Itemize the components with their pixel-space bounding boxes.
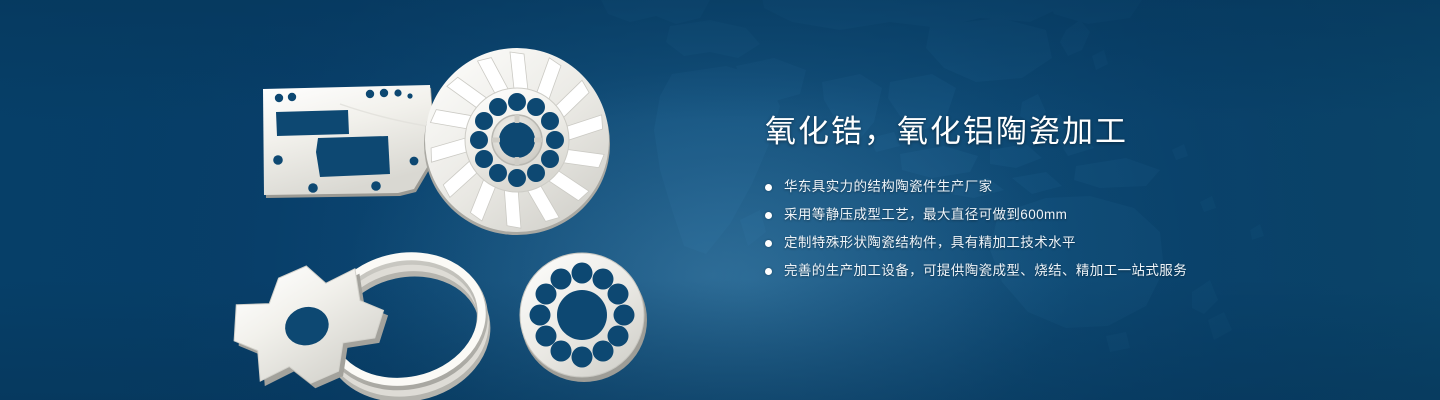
banner-copy: 氧化锆，氧化铝陶瓷加工 华东具实力的结构陶瓷件生产厂家 采用等静压成型工艺，最大… [765, 112, 1385, 289]
bullet-dot-icon [765, 268, 772, 275]
bullet-dot-icon [765, 240, 772, 247]
list-item: 华东具实力的结构陶瓷件生产厂家 [765, 177, 1385, 197]
bullet-dot-icon [765, 184, 772, 191]
ceramic-impeller-disc [424, 48, 610, 235]
ceramic-products-image [230, 40, 670, 380]
list-item: 完善的生产加工设备，可提供陶瓷成型、烧结、精加工一站式服务 [765, 261, 1385, 281]
feature-text: 定制特殊形状陶瓷结构件，具有精加工技术水平 [784, 233, 1076, 253]
list-item: 定制特殊形状陶瓷结构件，具有精加工技术水平 [765, 233, 1385, 253]
bullet-dot-icon [765, 212, 772, 219]
ceramic-mounting-plate [263, 85, 436, 198]
feature-text: 完善的生产加工设备，可提供陶瓷成型、烧结、精加工一站式服务 [784, 261, 1187, 281]
hero-banner: 氧化锆，氧化铝陶瓷加工 华东具实力的结构陶瓷件生产厂家 采用等静压成型工艺，最大… [0, 0, 1440, 400]
ceramic-perforated-disc [520, 253, 647, 382]
feature-list: 华东具实力的结构陶瓷件生产厂家 采用等静压成型工艺，最大直径可做到600mm 定… [765, 177, 1385, 281]
list-item: 采用等静压成型工艺，最大直径可做到600mm [765, 205, 1385, 225]
feature-text: 采用等静压成型工艺，最大直径可做到600mm [784, 205, 1067, 225]
banner-headline: 氧化锆，氧化铝陶瓷加工 [765, 112, 1385, 152]
feature-text: 华东具实力的结构陶瓷件生产厂家 [784, 177, 993, 197]
